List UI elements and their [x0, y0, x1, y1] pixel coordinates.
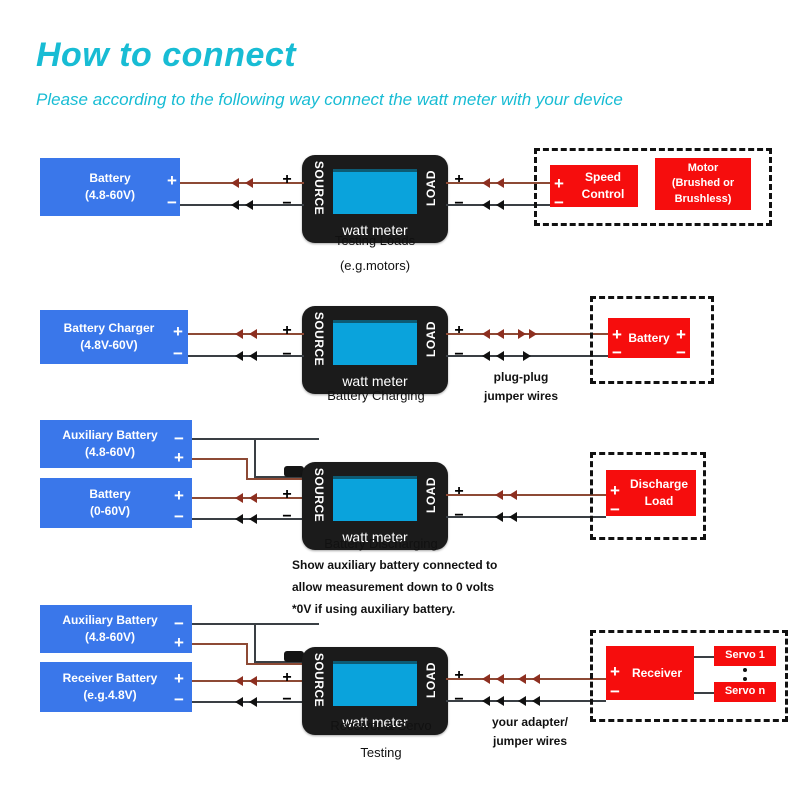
source-row1-line1: Battery — [89, 171, 130, 185]
arrow-row1-source-pos-2 — [245, 178, 253, 188]
arrow-row2-load-pos-1 — [482, 329, 490, 339]
aux-row4-line2: (4.8-60V) — [85, 630, 135, 644]
meter-row2-lcd-screen — [333, 320, 417, 365]
wire-row4-aux-neg-v — [254, 623, 256, 663]
meter-row1-load-label: LOAD — [424, 160, 438, 216]
meter-row2-source-label: SOURCE — [312, 311, 326, 367]
source-row1-plus: + — [165, 172, 179, 189]
wire-receiver-to-servo-last — [694, 692, 716, 694]
page-subtitle: Please according to the following way co… — [36, 90, 623, 110]
aux-row3-plus: + — [172, 449, 186, 466]
source-box-row1-label: Battery (4.8-60V) — [81, 170, 139, 205]
meter-row4-load-plus: + — [452, 668, 466, 684]
arrow-row4-source-pos-1 — [235, 676, 243, 686]
arrow-row3-source-neg-1 — [235, 514, 243, 524]
arrow-row3-load-neg-1 — [495, 512, 503, 522]
servo-first-label: Servo 1 — [725, 648, 765, 663]
meter-row3-source-plus: + — [280, 487, 294, 503]
aux-box-row4: Auxiliary Battery (4.8-60V) — [40, 605, 192, 653]
motor-line2: (Brushed or — [672, 177, 734, 189]
source-row3-line2: (0-60V) — [90, 504, 130, 518]
arrow-row4-load-pos-2 — [496, 674, 504, 684]
speed-control-line2: Control — [582, 187, 625, 201]
arrow-row4-load-pos-3 — [518, 674, 526, 684]
battery-load-right-minus: − — [674, 344, 688, 361]
meter-row3-load-plus: + — [452, 484, 466, 500]
receiver-minus: − — [608, 683, 622, 700]
aux-row3-line1: Auxiliary Battery — [62, 428, 157, 442]
note-row3-line1: Show auxiliary battery connected to — [292, 558, 497, 572]
aux-row3-minus: − — [172, 430, 186, 447]
caption-row4-line2: Testing — [296, 745, 466, 760]
meter-row4-source-plus: + — [280, 670, 294, 686]
meter-row4-lcd-screen — [333, 661, 417, 706]
arrow-row1-source-neg-1 — [231, 200, 239, 210]
receiver-label: Receiver — [618, 665, 682, 682]
load-box-row1-motor: Motor (Brushed or Brushless) — [655, 158, 751, 210]
arrow-row3-load-pos-1 — [495, 490, 503, 500]
discharge-load-label: Discharge Load — [614, 476, 688, 510]
wire-note-row2-line2: jumper wires — [466, 387, 576, 405]
source-row4-line2: (e.g.4.8V) — [83, 688, 136, 702]
wire-row3-load-positive — [446, 494, 606, 496]
arrow-row3-load-pos-2 — [509, 490, 517, 500]
meter-row1-source-plus: + — [280, 172, 294, 188]
servo-last-label: Servo n — [725, 684, 765, 699]
caption-row1-line2: (e.g.motors) — [302, 258, 448, 273]
meter-row1-source-label: SOURCE — [312, 160, 326, 216]
arrow-row4-source-neg-2 — [249, 697, 257, 707]
aux-connector-plug-row3 — [284, 466, 304, 477]
arrow-row3-load-neg-2 — [509, 512, 517, 522]
diagram-canvas: How to connect Please according to the f… — [0, 0, 800, 800]
aux-connector-plug-row4 — [284, 651, 304, 662]
meter-row4-source-minus: − — [280, 692, 294, 708]
caption-row3-line1: Battery Discharging — [296, 536, 466, 551]
wire-row4-aux-pos-h1 — [192, 643, 248, 645]
watt-meter-row1: SOURCE LOAD watt meter — [302, 155, 448, 243]
aux-box-row4-label: Auxiliary Battery (4.8-60V) — [58, 612, 173, 647]
source-box-row1: Battery (4.8-60V) — [40, 158, 180, 216]
source-row3-plus: + — [172, 487, 186, 504]
source-row4-plus: + — [172, 670, 186, 687]
arrow-row4-load-neg-2 — [496, 696, 504, 706]
speed-control-plus: + — [552, 175, 566, 192]
source-row4-minus: − — [172, 691, 186, 708]
arrow-row1-source-pos-1 — [231, 178, 239, 188]
watt-meter-row2: SOURCE LOAD watt meter — [302, 306, 448, 394]
arrow-row4-load-pos-4 — [532, 674, 540, 684]
battery-load-left-plus: + — [610, 326, 624, 343]
discharge-load-line2: Load — [645, 494, 674, 508]
meter-row3-load-label: LOAD — [424, 467, 438, 523]
meter-row2-load-label: LOAD — [424, 311, 438, 367]
arrow-row2-load-neg-2 — [496, 351, 504, 361]
wire-row4-load-negative — [446, 700, 606, 702]
arrow-row4-load-neg-3 — [518, 696, 526, 706]
caption-row2-line1: Battery Charging — [296, 388, 456, 403]
arrow-row2-source-pos-1 — [235, 329, 243, 339]
meter-row1-stub-neg — [290, 204, 304, 206]
arrow-row1-source-neg-2 — [245, 200, 253, 210]
receiver-plus: + — [608, 663, 622, 680]
discharge-load-line1: Discharge — [630, 477, 688, 491]
aux-row4-plus: + — [172, 634, 186, 651]
motor-line3: Brushless) — [675, 193, 732, 205]
aux-box-row3: Auxiliary Battery (4.8-60V) — [40, 420, 192, 468]
speed-control-line1: Speed — [585, 170, 621, 184]
aux-box-row3-label: Auxiliary Battery (4.8-60V) — [58, 427, 173, 462]
meter-row4-source-label: SOURCE — [312, 652, 326, 708]
note-row3-line3: *0V if using auxiliary battery. — [292, 602, 455, 616]
servo-box-first: Servo 1 — [714, 646, 776, 666]
caption-row1-line1: Testing Loads — [302, 233, 448, 248]
aux-row4-minus: − — [172, 615, 186, 632]
arrow-row4-load-neg-1 — [482, 696, 490, 706]
arrow-row3-source-pos-2 — [249, 493, 257, 503]
aux-row3-line2: (4.8-60V) — [85, 445, 135, 459]
meter-row2-load-plus: + — [452, 323, 466, 339]
arrow-row1-load-pos-1 — [482, 178, 490, 188]
battery-load-label: Battery — [628, 330, 669, 347]
source-row2-minus: − — [171, 345, 185, 362]
wire-row4-aux-pos-h2 — [246, 663, 302, 665]
source-row3-minus: − — [172, 508, 186, 525]
source-row2-plus: + — [171, 323, 185, 340]
arrow-row4-load-neg-4 — [532, 696, 540, 706]
meter-row3-source-label: SOURCE — [312, 467, 326, 523]
arrow-row4-load-pos-1 — [482, 674, 490, 684]
arrow-row2-load-pos-4 — [529, 329, 537, 339]
meter-row4-load-label: LOAD — [424, 652, 438, 708]
source-row3-line1: Battery — [89, 487, 130, 501]
wire-row3-aux-neg-v — [254, 438, 256, 478]
arrow-row2-load-neg-1 — [482, 351, 490, 361]
page-title: How to connect — [36, 36, 296, 75]
aux-row4-line1: Auxiliary Battery — [62, 613, 157, 627]
speed-control-label: Speed Control — [564, 169, 625, 203]
source-box-row4: Receiver Battery (e.g.4.8V) — [40, 662, 192, 712]
meter-row1-stub-pos — [290, 182, 304, 184]
meter-row2-source-plus: + — [280, 323, 294, 339]
meter-row2-stub-pos — [290, 333, 304, 335]
meter-row3-source-minus: − — [280, 509, 294, 525]
arrow-row2-load-pos-2 — [496, 329, 504, 339]
arrow-row1-load-pos-2 — [496, 178, 504, 188]
caption-row4-line1: Receiver & Servo — [296, 718, 466, 733]
arrow-row2-load-pos-3 — [518, 329, 526, 339]
arrow-row2-load-neg-3 — [523, 351, 531, 361]
meter-row1-load-plus: + — [452, 172, 466, 188]
servo-box-last: Servo n — [714, 682, 776, 702]
wire-row4-aux-pos-v — [246, 643, 248, 665]
note-row3-line2: allow measurement down to 0 volts — [292, 580, 494, 594]
source-box-row3: Battery (0-60V) — [40, 478, 192, 528]
arrow-row3-source-pos-1 — [235, 493, 243, 503]
arrow-row2-source-pos-2 — [249, 329, 257, 339]
wire-receiver-to-servo-first — [694, 656, 716, 658]
meter-row1-lcd-screen — [333, 169, 417, 214]
servo-dot-1 — [743, 668, 747, 672]
servo-dot-2 — [743, 677, 747, 681]
source-row4-line1: Receiver Battery — [63, 671, 158, 685]
arrow-row1-load-neg-2 — [496, 200, 504, 210]
discharge-load-plus: + — [608, 482, 622, 499]
source-row2-line1: Battery Charger — [64, 321, 155, 335]
source-row1-minus: − — [165, 194, 179, 211]
wire-row3-aux-pos-v — [246, 458, 248, 480]
arrow-row4-source-pos-2 — [249, 676, 257, 686]
wire-row3-aux-pos-h1 — [192, 458, 248, 460]
arrow-row3-source-neg-2 — [249, 514, 257, 524]
source-box-row2: Battery Charger (4.8V-60V) — [40, 310, 188, 364]
wire-row2-load-positive — [446, 333, 608, 335]
source-box-row3-label: Battery (0-60V) — [85, 486, 146, 521]
battery-load-right-plus: + — [674, 326, 688, 343]
wire-row3-load-negative — [446, 516, 606, 518]
wire-note-row2-line1: plug-plug — [466, 368, 576, 386]
arrow-row1-load-neg-1 — [482, 200, 490, 210]
source-box-row4-label: Receiver Battery (e.g.4.8V) — [59, 670, 174, 705]
motor-line1: Motor — [688, 162, 719, 174]
wire-row3-aux-pos-h2 — [246, 478, 302, 480]
wire-note-row4-line2: jumper wires — [470, 732, 590, 750]
motor-label: Motor (Brushed or Brushless) — [672, 161, 734, 207]
wire-row4-load-positive — [446, 678, 606, 680]
arrow-row2-source-neg-1 — [235, 351, 243, 361]
source-box-row2-label: Battery Charger (4.8V-60V) — [60, 320, 169, 355]
arrow-row4-source-neg-1 — [235, 697, 243, 707]
wire-note-row4-line1: your adapter/ — [470, 713, 590, 731]
meter-row2-name: watt meter — [302, 373, 448, 389]
speed-control-minus: − — [552, 194, 566, 211]
discharge-load-minus: − — [608, 501, 622, 518]
meter-row3-lcd-screen — [333, 476, 417, 521]
source-row2-line2: (4.8V-60V) — [80, 338, 137, 352]
meter-row2-stub-neg — [290, 355, 304, 357]
source-row1-line2: (4.8-60V) — [85, 188, 135, 202]
battery-load-left-minus: − — [610, 344, 624, 361]
arrow-row2-source-neg-2 — [249, 351, 257, 361]
